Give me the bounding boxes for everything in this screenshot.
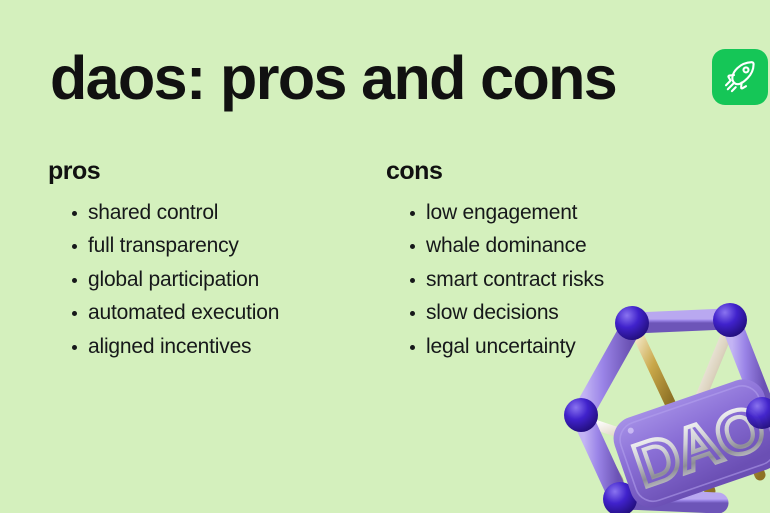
bullet-dot-icon xyxy=(410,345,415,350)
lattice-nodes-front xyxy=(746,397,770,429)
bullet-dot-icon xyxy=(410,244,415,249)
list-item: whale dominance xyxy=(386,229,726,263)
bullet-dot-icon xyxy=(72,244,77,249)
list-item-label: aligned incentives xyxy=(88,335,251,358)
cons-list: low engagement whale dominance smart con… xyxy=(386,196,726,364)
page-title: daos: pros and cons xyxy=(50,48,616,109)
list-item-label: smart contract risks xyxy=(426,268,604,291)
list-item: smart contract risks xyxy=(386,263,726,297)
list-item-label: whale dominance xyxy=(426,234,586,257)
rocket-logo-badge xyxy=(712,49,768,105)
bullet-dot-icon xyxy=(410,311,415,316)
list-item: automated execution xyxy=(48,296,378,330)
rocket-icon xyxy=(721,58,759,96)
list-item: low engagement xyxy=(386,196,726,230)
list-item-label: shared control xyxy=(88,201,218,224)
slide-header: daos: pros and cons xyxy=(0,0,770,150)
list-item-label: slow decisions xyxy=(426,301,559,324)
bullet-dot-icon xyxy=(72,345,77,350)
list-item-label: automated execution xyxy=(88,301,279,324)
list-item: full transparency xyxy=(48,229,378,263)
list-item-label: legal uncertainty xyxy=(426,335,576,358)
bullet-dot-icon xyxy=(410,278,415,283)
list-item-label: global participation xyxy=(88,268,259,291)
pros-list: shared control full transparency global … xyxy=(48,196,378,364)
bullet-dot-icon xyxy=(72,211,77,216)
list-item-label: full transparency xyxy=(88,234,239,257)
dao-card-label: DAO xyxy=(625,393,770,501)
list-item: global participation xyxy=(48,263,378,297)
column-pros: pros shared control full transparency gl… xyxy=(48,158,378,363)
column-heading-pros: pros xyxy=(48,158,378,186)
column-heading-cons: cons xyxy=(386,158,726,186)
bullet-dot-icon xyxy=(72,278,77,283)
list-item-label: low engagement xyxy=(426,201,577,224)
list-item: slow decisions xyxy=(386,296,726,330)
list-item: shared control xyxy=(48,196,378,230)
slide-canvas: daos: pros and cons xyxy=(0,0,770,513)
list-item: aligned incentives xyxy=(48,330,378,364)
pros-cons-columns: pros shared control full transparency gl… xyxy=(0,158,770,388)
column-cons: cons low engagement whale dominance smar… xyxy=(386,158,726,363)
dao-card: DAO xyxy=(608,373,770,513)
bullet-dot-icon xyxy=(410,211,415,216)
bullet-dot-icon xyxy=(72,311,77,316)
list-item: legal uncertainty xyxy=(386,330,726,364)
